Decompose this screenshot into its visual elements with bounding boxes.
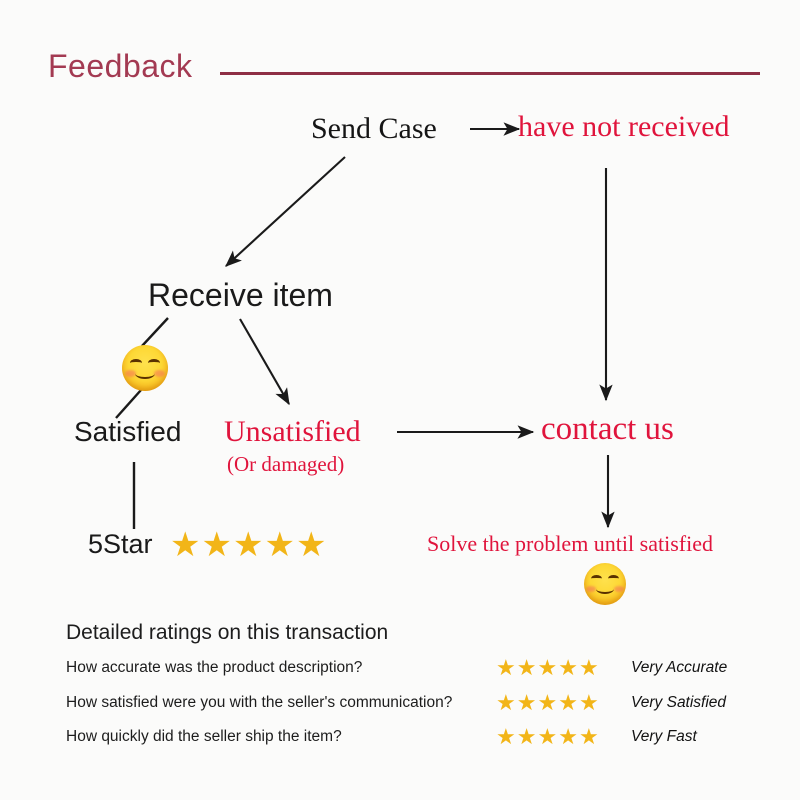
rating-question: How quickly did the seller ship the item… xyxy=(66,728,496,746)
star-icon[interactable]: ★ xyxy=(558,726,578,748)
rating-stars[interactable]: ★ ★ ★ ★ ★ xyxy=(496,657,631,679)
rating-label: Very Fast xyxy=(631,728,697,746)
node-send-case: Send Case xyxy=(311,112,437,146)
smiling-face-icon xyxy=(122,345,168,391)
star-icon: ★ xyxy=(201,528,231,562)
node-unsatisfied-sublabel: (Or damaged) xyxy=(227,452,344,477)
rating-row: How quickly did the seller ship the item… xyxy=(66,724,766,750)
star-icon[interactable]: ★ xyxy=(537,726,557,748)
star-icon: ★ xyxy=(170,528,200,562)
rating-stars[interactable]: ★ ★ ★ ★ ★ xyxy=(496,692,631,714)
star-icon[interactable]: ★ xyxy=(517,726,537,748)
rating-stars[interactable]: ★ ★ ★ ★ ★ xyxy=(496,726,631,748)
star-icon[interactable]: ★ xyxy=(558,657,578,679)
emoji-eye-left xyxy=(591,575,602,582)
star-icon: ★ xyxy=(296,528,326,562)
emoji-eye-right xyxy=(148,359,160,367)
line-receiveitem-to-emoji xyxy=(142,318,168,346)
node-solve-until-satisfied: Solve the problem until satisfied xyxy=(427,531,713,557)
node-satisfied: Satisfied xyxy=(74,416,181,448)
smiling-face-icon xyxy=(584,563,626,605)
ratings-heading: Detailed ratings on this transaction xyxy=(66,621,388,645)
node-have-not-received: have not received xyxy=(518,110,730,144)
rating-question: How satisfied were you with the seller's… xyxy=(66,694,496,712)
emoji-mouth xyxy=(135,368,155,379)
star-icon[interactable]: ★ xyxy=(496,657,516,679)
emoji-cheek-left xyxy=(586,586,596,592)
star-icon: ★ xyxy=(233,528,263,562)
star-icon[interactable]: ★ xyxy=(579,726,599,748)
header-divider xyxy=(220,72,760,75)
rating-row: How accurate was the product description… xyxy=(66,655,766,681)
emoji-eye-right xyxy=(608,575,619,582)
emoji-cheek-right xyxy=(614,586,624,592)
line-emoji-to-satisfied xyxy=(116,390,141,418)
rating-row: How satisfied were you with the seller's… xyxy=(66,690,766,716)
node-contact-us[interactable]: contact us xyxy=(541,411,674,448)
star-icon[interactable]: ★ xyxy=(517,692,537,714)
page-title: Feedback xyxy=(48,48,193,85)
emoji-eye-left xyxy=(130,359,142,367)
node-receive-item: Receive item xyxy=(148,277,333,314)
arrow-sendcase-to-receiveitem xyxy=(226,157,345,266)
five-star-rating: ★ ★ ★ ★ ★ xyxy=(170,528,326,562)
star-icon[interactable]: ★ xyxy=(496,692,516,714)
arrow-receiveitem-to-unsatisfied xyxy=(240,319,289,404)
star-icon[interactable]: ★ xyxy=(579,657,599,679)
feedback-infographic: Feedback Send Case have not received Rec… xyxy=(0,0,800,800)
star-icon[interactable]: ★ xyxy=(537,692,557,714)
emoji-mouth xyxy=(596,584,614,594)
star-icon[interactable]: ★ xyxy=(496,726,516,748)
node-5star-label: 5Star xyxy=(88,529,153,560)
star-icon[interactable]: ★ xyxy=(558,692,578,714)
emoji-cheek-right xyxy=(154,370,165,377)
rating-label: Very Accurate xyxy=(631,659,727,677)
node-unsatisfied: Unsatisfied xyxy=(224,415,361,449)
rating-label: Very Satisfied xyxy=(631,694,726,712)
star-icon[interactable]: ★ xyxy=(517,657,537,679)
rating-question: How accurate was the product description… xyxy=(66,659,496,677)
star-icon[interactable]: ★ xyxy=(537,657,557,679)
star-icon: ★ xyxy=(264,528,294,562)
star-icon[interactable]: ★ xyxy=(579,692,599,714)
